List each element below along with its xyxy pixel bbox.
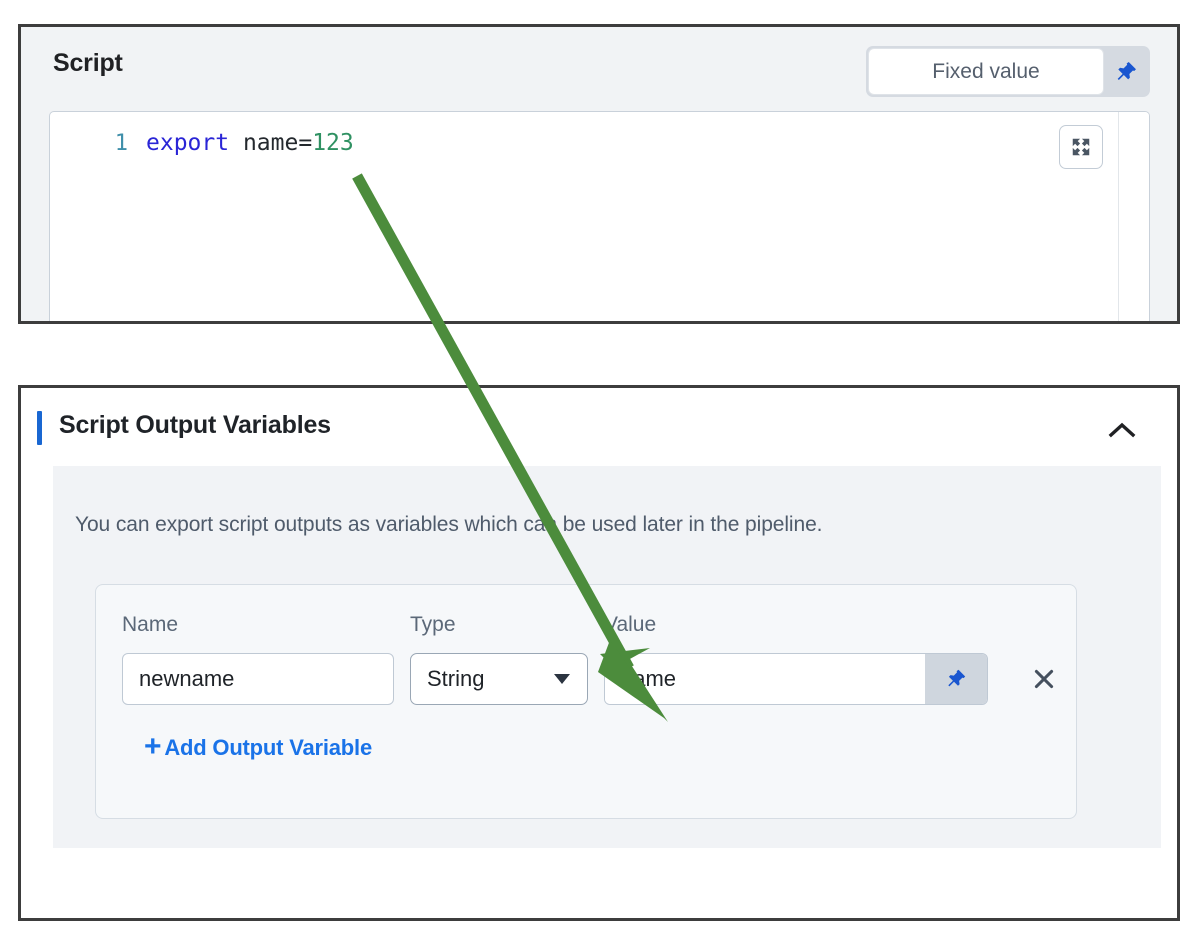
chevron-down-icon xyxy=(554,674,570,684)
output-variable-row: String xyxy=(122,653,1056,705)
script-panel: Script Fixed value 1 export name=123 xyxy=(18,24,1180,324)
variable-value-input[interactable] xyxy=(605,654,925,704)
page-title: Script Output Variables xyxy=(59,411,331,440)
variable-name-input[interactable] xyxy=(122,653,394,705)
variable-type-select[interactable]: String xyxy=(410,653,588,705)
code-line-1: 1 export name=123 xyxy=(50,126,354,160)
code-token-space xyxy=(229,130,243,156)
code-token-operator: = xyxy=(298,130,312,156)
pin-icon[interactable] xyxy=(1104,48,1148,95)
column-header-type: Type xyxy=(410,613,456,637)
code-editor-scrollbar[interactable] xyxy=(1118,112,1149,324)
code-token-variable: name xyxy=(243,130,298,156)
variable-value-group xyxy=(604,653,988,705)
script-code-editor[interactable]: 1 export name=123 xyxy=(49,111,1150,324)
script-panel-header: Script Fixed value xyxy=(21,27,1177,109)
code-token-keyword: export xyxy=(146,130,229,156)
column-header-name: Name xyxy=(122,613,178,637)
output-variables-container: Name Type Value String xyxy=(95,584,1077,819)
column-header-value: Value xyxy=(604,613,656,637)
add-output-variable-label: Add Output Variable xyxy=(164,735,372,761)
output-panel-description: You can export script outputs as variabl… xyxy=(75,513,822,537)
plus-icon: + xyxy=(144,732,161,762)
code-token-number: 123 xyxy=(312,130,354,156)
accent-bar xyxy=(37,411,42,445)
output-panel-body: You can export script outputs as variabl… xyxy=(53,466,1161,848)
code-line-number: 1 xyxy=(50,131,146,156)
fixed-value-button[interactable]: Fixed value xyxy=(868,48,1104,95)
fixed-value-toggle-group[interactable]: Fixed value xyxy=(866,46,1150,97)
pin-icon[interactable] xyxy=(925,654,987,704)
close-icon[interactable] xyxy=(1020,655,1068,703)
output-panel-header: Script Output Variables xyxy=(21,388,1177,466)
add-output-variable-button[interactable]: + Add Output Variable xyxy=(144,733,372,763)
chevron-up-icon[interactable] xyxy=(1102,413,1142,447)
script-panel-title: Script xyxy=(53,49,123,78)
script-output-variables-panel: Script Output Variables You can export s… xyxy=(18,385,1180,921)
variable-type-selected-value: String xyxy=(411,666,554,692)
expand-icon[interactable] xyxy=(1059,125,1103,169)
